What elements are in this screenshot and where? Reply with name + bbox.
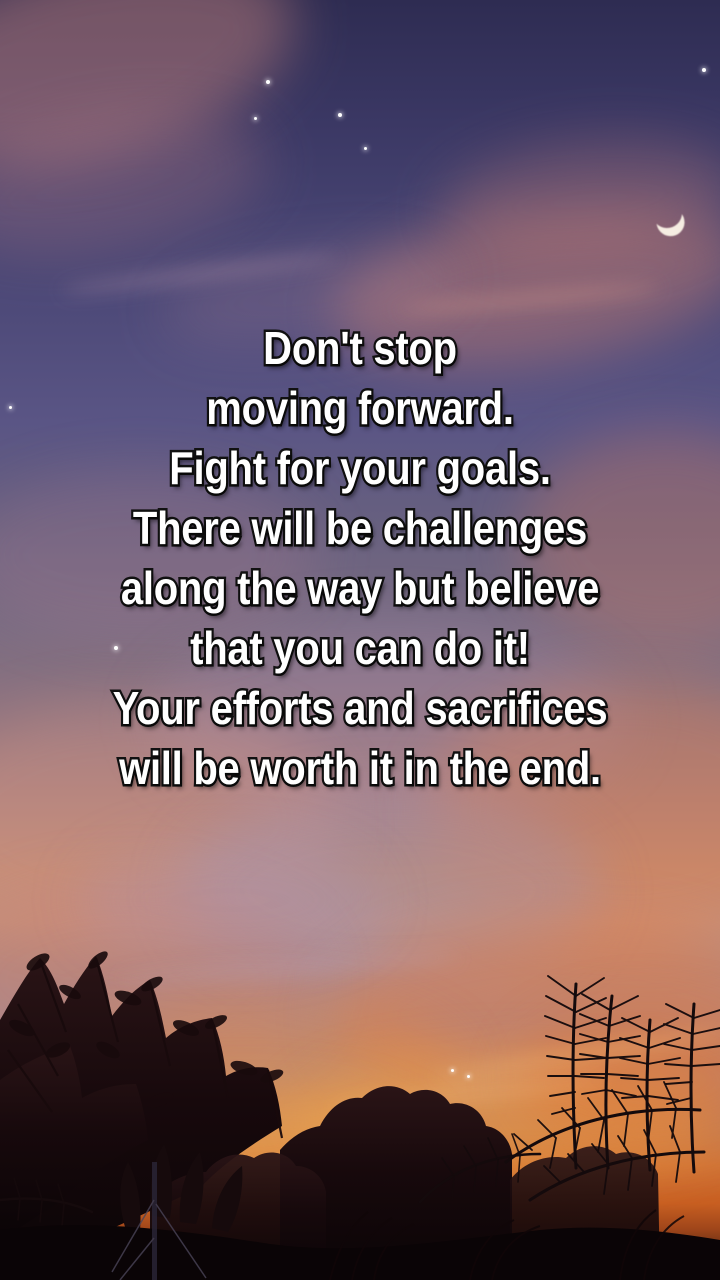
- quote-line: Your efforts and sacrifices: [47, 678, 673, 738]
- star-icon: [266, 80, 270, 84]
- star-icon: [364, 147, 367, 150]
- quote-line: Don't stop: [47, 318, 673, 378]
- quote-line: along the way but believe: [47, 558, 673, 618]
- star-icon: [702, 68, 706, 72]
- quote-line: Fight for your goals.: [47, 438, 673, 498]
- star-icon: [254, 117, 257, 120]
- tree-silhouette-layer: [0, 900, 720, 1280]
- quote-line: moving forward.: [47, 378, 673, 438]
- quote-line: that you can do it!: [47, 618, 673, 678]
- quote-text-block: Don't stopmoving forward.Fight for your …: [0, 318, 720, 798]
- wallpaper-canvas: Don't stopmoving forward.Fight for your …: [0, 0, 720, 1280]
- star-icon: [338, 113, 342, 117]
- quote-line: will be worth it in the end.: [47, 738, 673, 798]
- quote-line: There will be challenges: [47, 498, 673, 558]
